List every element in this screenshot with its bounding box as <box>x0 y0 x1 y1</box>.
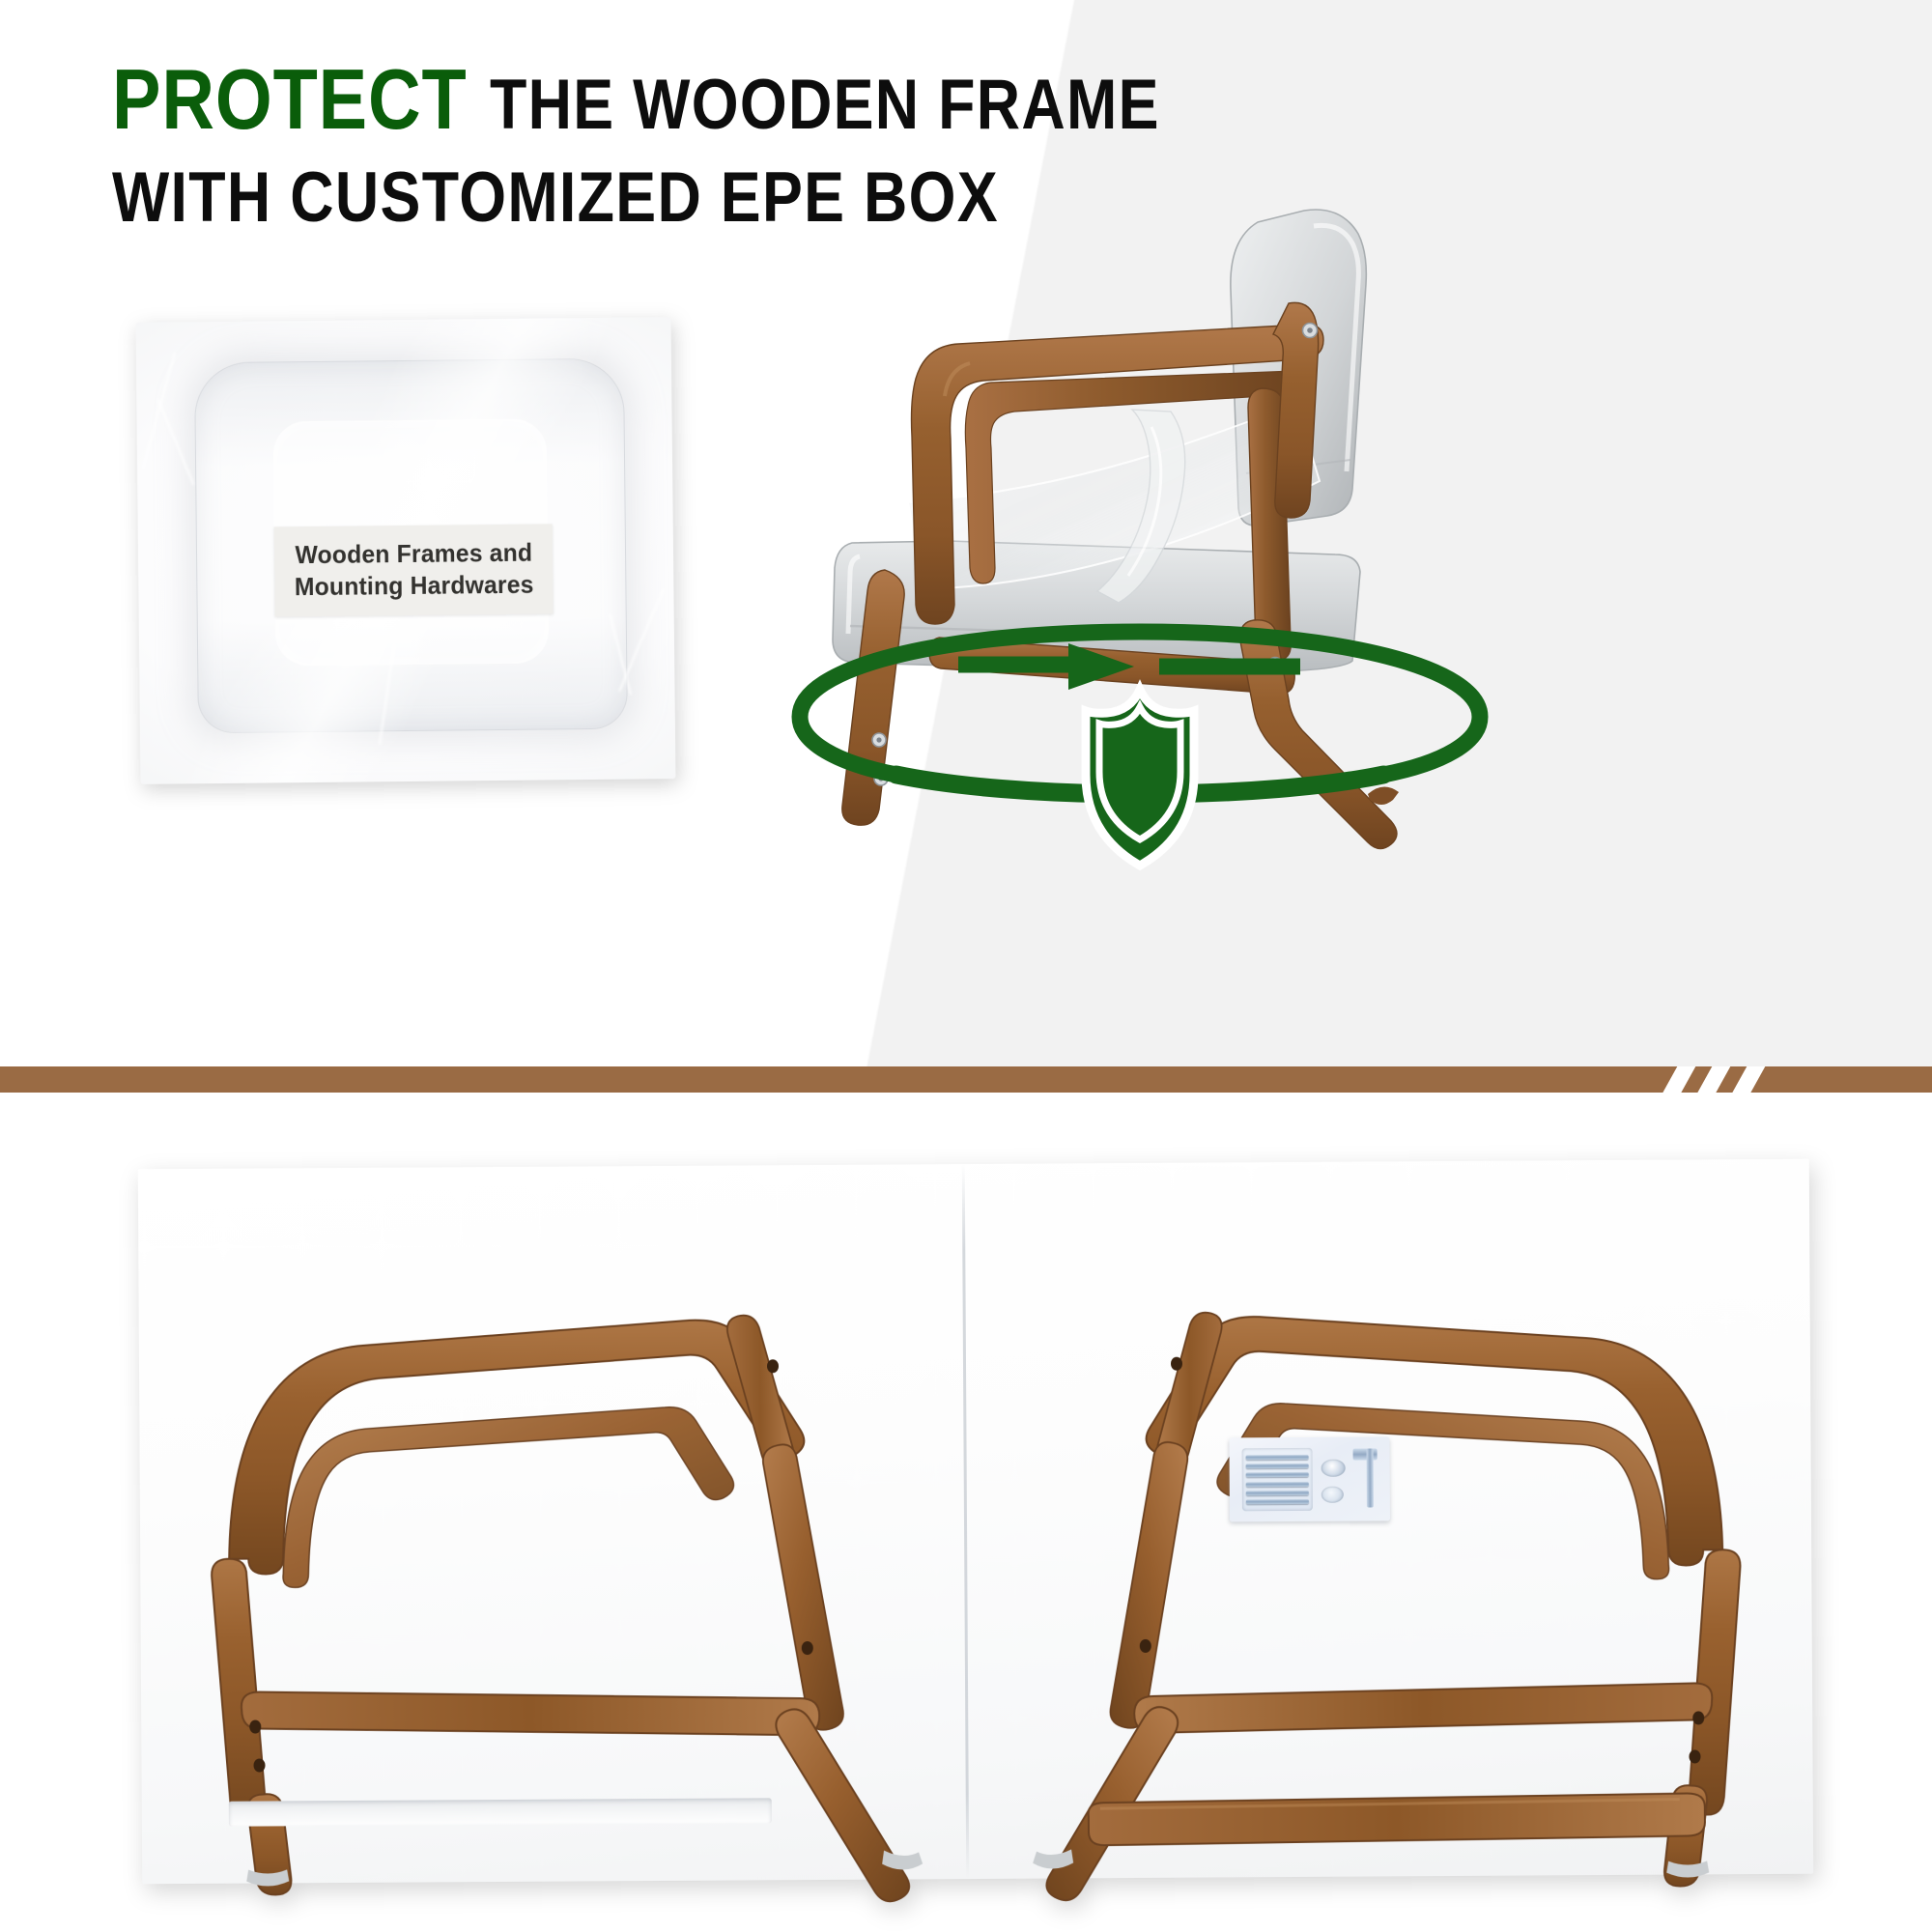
left-frame-bolt-hole <box>767 1359 779 1373</box>
protection-orbit-graphic <box>753 589 1526 840</box>
headline-line-1: PROTECTTHE WOODEN FRAME <box>112 60 1561 140</box>
headline-line-2: WITH CUSTOMIZED EPE BOX <box>112 165 1358 232</box>
right-frame-bolt-hole <box>1692 1711 1704 1724</box>
frame-parts-illustration <box>138 1159 1813 1885</box>
left-frame-bolt-hole <box>253 1758 265 1772</box>
allen-key-short-arm <box>1352 1449 1377 1461</box>
frame-parts-photo <box>138 1159 1813 1885</box>
epe-box-photo: Wooden Frames and Mounting Hardwares <box>136 317 676 784</box>
left-frame-bolt-hole <box>249 1720 261 1734</box>
right-frame-bolt-hole <box>1171 1357 1182 1371</box>
headline-block: PROTECTTHE WOODEN FRAME WITH CUSTOMIZED … <box>112 60 1561 231</box>
hardware-blister-pack <box>1229 1436 1390 1521</box>
hardware-bolt <box>1246 1472 1309 1477</box>
hardware-bolts-well <box>1242 1448 1313 1511</box>
allen-key-icon <box>1352 1449 1377 1508</box>
epe-label-line-1: Wooden Frames and <box>295 537 532 572</box>
divider-slash <box>1691 1066 1734 1093</box>
headline-highlight-word: PROTECT <box>112 60 468 140</box>
hardware-bolt <box>1246 1499 1309 1504</box>
divider-slash <box>1657 1066 1699 1093</box>
hardware-bolt <box>1246 1455 1309 1460</box>
allen-key-long-arm <box>1367 1449 1374 1508</box>
arrow-right-icon <box>958 643 1300 690</box>
right-frame-bolt-hole <box>1689 1749 1700 1763</box>
protection-orbit-illustration <box>753 589 1526 840</box>
hardware-bolt <box>1246 1491 1309 1495</box>
hardware-washer <box>1321 1486 1343 1503</box>
hardware-bolt <box>1246 1481 1309 1486</box>
left-frame-bolt-hole <box>802 1641 813 1655</box>
foam-cutout-slot <box>229 1798 772 1826</box>
epe-box-label: Wooden Frames and Mounting Hardwares <box>274 524 554 616</box>
section-divider-bar <box>0 1066 1932 1093</box>
hardware-washer <box>1321 1459 1345 1476</box>
shield-icon <box>1086 690 1194 866</box>
hardware-bolt <box>1246 1463 1309 1468</box>
epe-label-line-2: Mounting Hardwares <box>295 569 534 604</box>
headline-line-1-rest: THE WOODEN FRAME <box>490 72 1160 139</box>
divider-slash <box>1726 1066 1769 1093</box>
right-frame-bolt-hole <box>1140 1639 1151 1653</box>
bottom-cross-rail <box>1089 1793 1705 1845</box>
